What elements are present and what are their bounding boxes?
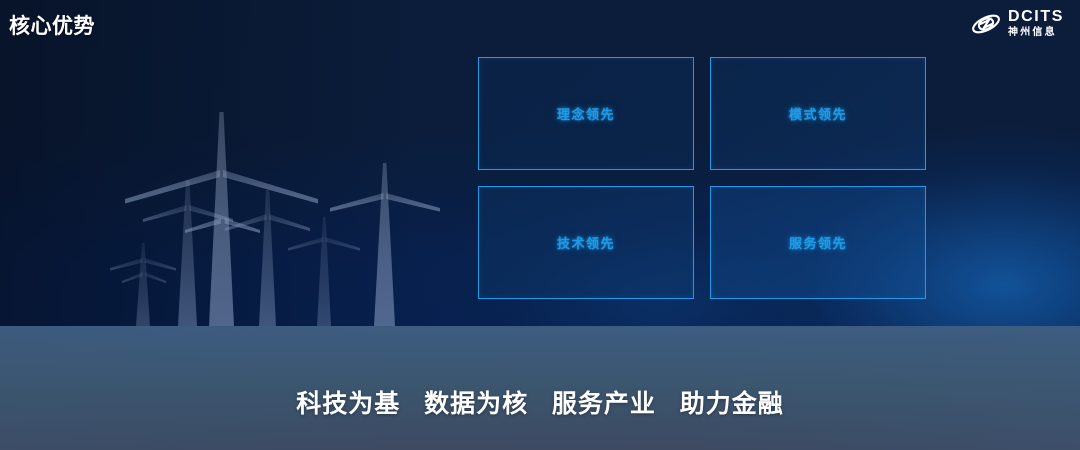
- advantage-card-model[interactable]: 模式领先: [710, 57, 926, 170]
- dcits-swoosh-logo-icon: [971, 11, 1001, 37]
- brand-logo-cn: 神州信息: [1008, 28, 1064, 38]
- advantage-card-label: 模式领先: [789, 104, 847, 123]
- page-title: 核心优势: [9, 10, 95, 40]
- advantage-card-label: 理念领先: [557, 104, 615, 123]
- brand-logo-en: DCITS: [1008, 9, 1064, 25]
- advantage-card-service[interactable]: 服务领先: [710, 186, 926, 299]
- advantage-card-technology[interactable]: 技术领先: [478, 186, 694, 299]
- advantage-card-label: 服务领先: [789, 233, 847, 252]
- advantage-card-label: 技术领先: [557, 233, 615, 252]
- advantage-card-grid: 理念领先 模式领先 技术领先 服务领先: [478, 57, 926, 299]
- brand-logo-text: DCITS 神州信息: [1008, 9, 1064, 38]
- footer-tagline: 科技为基 数据为核 服务产业 助力金融: [0, 384, 1080, 420]
- brand-logo: DCITS 神州信息: [971, 9, 1064, 38]
- slide-canvas: 核心优势 DCITS 神州信息 理念领先 模式领先 技术领先: [0, 0, 1080, 450]
- advantage-card-concept[interactable]: 理念领先: [478, 57, 694, 170]
